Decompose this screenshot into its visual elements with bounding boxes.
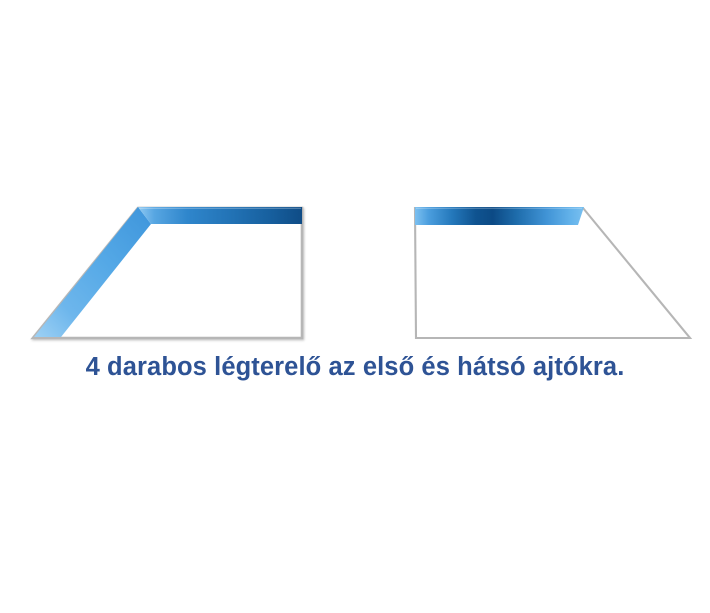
rear-door-window-figure <box>415 207 690 338</box>
product-illustration: 4 darabos légterelő az első és hátsó ajt… <box>0 0 710 613</box>
rear-window-outline <box>415 208 690 338</box>
front-deflector-top-strip <box>138 207 302 224</box>
rear-deflector-top-strip <box>415 207 584 225</box>
caption-text: 4 darabos légterelő az első és hátsó ajt… <box>0 352 710 382</box>
front-door-window-figure <box>33 207 302 338</box>
window-deflector-diagram <box>0 0 710 613</box>
